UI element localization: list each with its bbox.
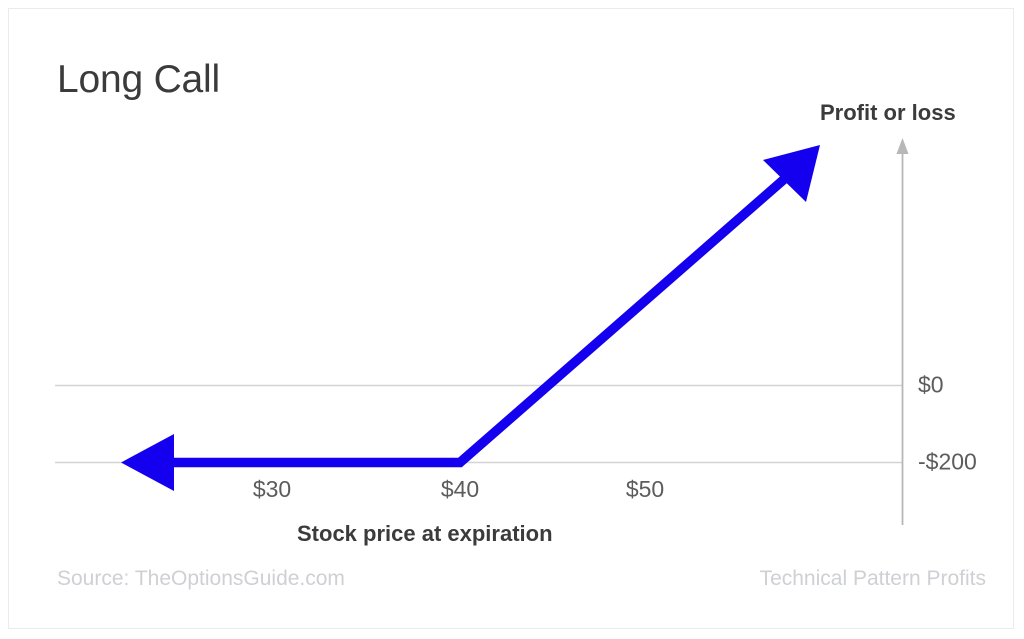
payoff-line <box>173 161 805 463</box>
x-tick-label-50: $50 <box>626 476 664 503</box>
x-tick-label-40: $40 <box>441 476 479 503</box>
x-axis-title: Stock price at expiration <box>297 521 553 547</box>
y-tick-label-minus-200: -$200 <box>918 449 977 476</box>
brand-watermark: Technical Pattern Profits <box>760 567 986 591</box>
y-axis-title: Profit or loss <box>820 100 956 126</box>
left-arrow-icon <box>121 434 174 491</box>
y-axis-arrow-icon <box>897 138 909 154</box>
y-tick-label-zero: $0 <box>918 372 944 399</box>
chart-canvas: Long Call Profit or loss Stock price at … <box>0 0 1024 639</box>
x-tick-label-30: $30 <box>253 476 291 503</box>
source-attribution: Source: TheOptionsGuide.com <box>57 567 345 591</box>
